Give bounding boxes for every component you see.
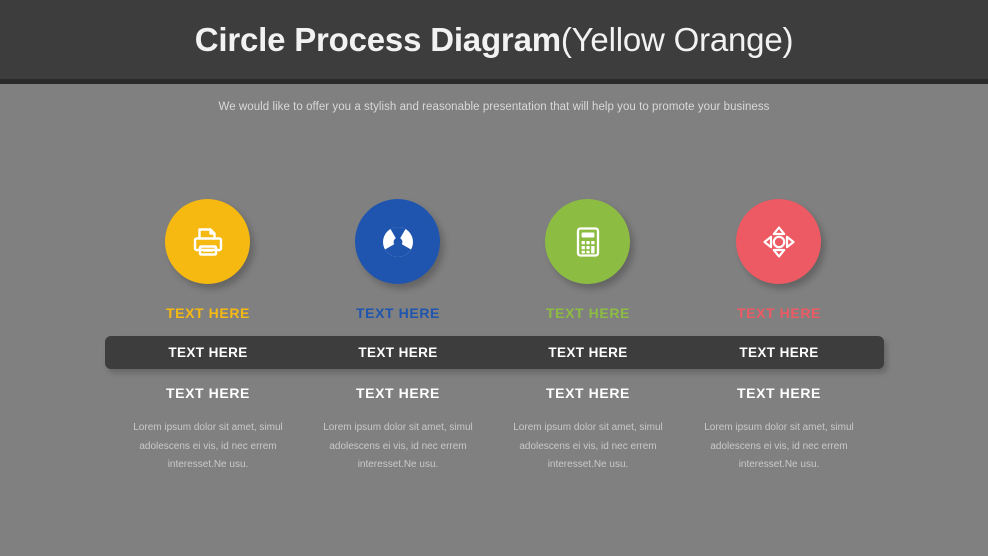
header-bar: Circle Process Diagram (Yellow Orange) (0, 0, 988, 79)
move-arrows-icon (758, 221, 800, 263)
column-body-text: Lorem ipsum dolor sit amet, simul adoles… (116, 419, 300, 475)
column-body-text: Lorem ipsum dolor sit amet, simul adoles… (496, 419, 680, 475)
column-body-text: Lorem ipsum dolor sit amet, simul adoles… (687, 419, 871, 475)
icon-circle-radiation[interactable] (355, 199, 440, 284)
column-body-text: Lorem ipsum dolor sit amet, simul adoles… (306, 419, 490, 475)
icon-circle-move[interactable] (736, 199, 821, 284)
column-white-label: TEXT HERE (493, 385, 683, 401)
icon-circle-calculator[interactable] (545, 199, 630, 284)
printer-icon (188, 222, 228, 262)
column-white-label: TEXT HERE (113, 385, 303, 401)
column-color-label: TEXT HERE (493, 305, 683, 321)
icon-circle-printer[interactable] (165, 199, 250, 284)
column-color-label: TEXT HERE (303, 305, 493, 321)
column-white-label: TEXT HERE (303, 385, 493, 401)
radiation-icon (377, 221, 419, 263)
page-title: Circle Process Diagram (Yellow Orange) (0, 0, 988, 79)
column-color-label: TEXT HERE (684, 305, 874, 321)
header-divider (0, 79, 988, 84)
process-bar (105, 336, 884, 369)
column-color-label: TEXT HERE (113, 305, 303, 321)
calculator-icon (568, 222, 608, 262)
subtitle: We would like to offer you a stylish and… (0, 101, 988, 113)
page-title-light: (Yellow Orange) (561, 21, 793, 59)
column-white-label: TEXT HERE (684, 385, 874, 401)
page-title-bold: Circle Process Diagram (195, 21, 561, 59)
